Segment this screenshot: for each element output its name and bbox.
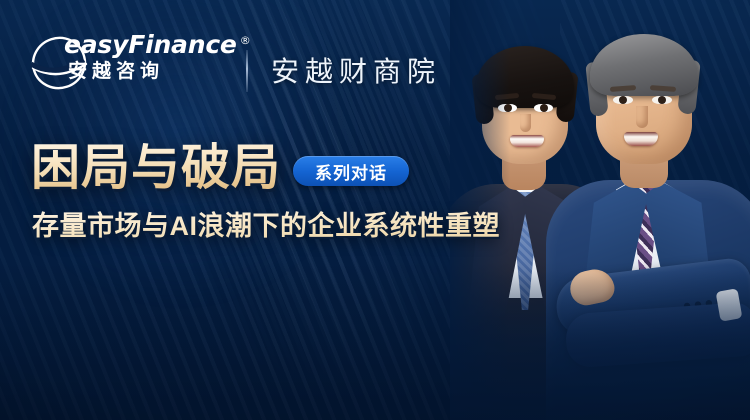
logo-english-name: easyFinance® [64, 32, 239, 57]
speaker-1-hair [476, 46, 574, 108]
speaker-2-eye-left [613, 96, 633, 104]
easyfinance-logo[interactable]: easyFinance® 安越咨询 [28, 28, 208, 96]
brand-header: easyFinance® 安越咨询 安越财商院 [28, 28, 208, 96]
header-divider [246, 50, 248, 92]
headline-row: 困局与破局 系列对话 [31, 142, 409, 194]
registered-trademark-icon: ® [240, 34, 251, 47]
speaker-1-eye-left [498, 104, 517, 112]
headline-title: 困局与破局 [31, 142, 281, 194]
speaker-2-nose [636, 106, 648, 128]
logo-chinese-name: 安越咨询 [64, 62, 239, 81]
logo-wordmark: easyFinance® 安越咨询 [64, 32, 239, 81]
speaker-1-mouth [510, 135, 544, 147]
series-badge: 系列对话 [293, 156, 409, 186]
speaker-1-nose [520, 114, 531, 132]
speaker-2-portrait [562, 22, 750, 420]
logo-english-text: easyFinance [64, 30, 237, 59]
brand-institute-name: 安越财商院 [271, 54, 441, 90]
speaker-2-hair [590, 34, 698, 96]
speaker-2-mouth [624, 132, 658, 146]
speaker-1-eye-right [534, 104, 553, 112]
headline-subtitle: 存量市场与AI浪潮下的企业系统性重塑 [32, 209, 500, 243]
promo-banner: easyFinance® 安越咨询 安越财商院 困局与破局 系列对话 存量市场与… [0, 0, 750, 420]
speaker-2-eye-right [652, 96, 672, 104]
